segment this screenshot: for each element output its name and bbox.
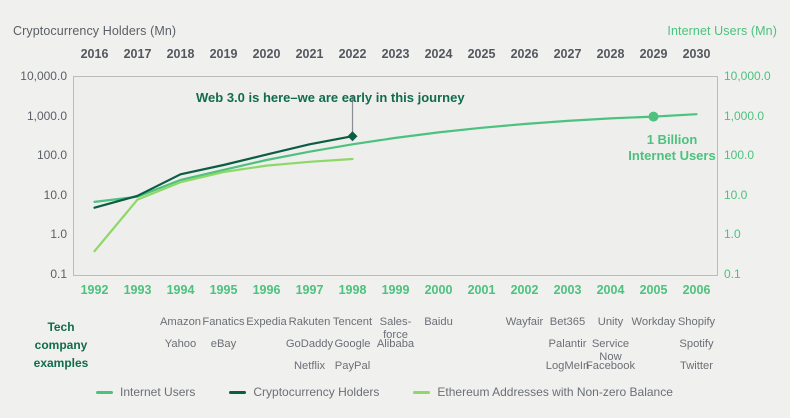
- bottom-year-tick-1997: 1997: [287, 283, 333, 297]
- top-year-tick-2023: 2023: [373, 47, 419, 61]
- top-year-tick-2024: 2024: [416, 47, 462, 61]
- company-example: Baidu: [414, 316, 464, 329]
- right-y-tick-0: 10,000.0: [724, 69, 786, 83]
- bottom-year-tick-1999: 1999: [373, 283, 419, 297]
- top-year-tick-2022: 2022: [330, 47, 376, 61]
- bottom-year-tick-1996: 1996: [244, 283, 290, 297]
- company-example: PayPal: [328, 360, 378, 373]
- series-line-internet-users: [95, 114, 697, 202]
- top-year-tick-2026: 2026: [502, 47, 548, 61]
- annotation-one-billion-line1: 1 Billion: [620, 132, 724, 148]
- top-year-tick-2017: 2017: [115, 47, 161, 61]
- top-year-tick-2020: 2020: [244, 47, 290, 61]
- left-y-tick-1: 1,000.0: [5, 109, 67, 123]
- bottom-year-tick-2003: 2003: [545, 283, 591, 297]
- bottom-year-tick-2002: 2002: [502, 283, 548, 297]
- bottom-year-tick-2006: 2006: [674, 283, 720, 297]
- chart-legend: Internet UsersCryptocurrency HoldersEthe…: [96, 385, 673, 399]
- legend-swatch-icon: [413, 391, 430, 394]
- legend-item[interactable]: Ethereum Addresses with Non-zero Balance: [413, 385, 672, 399]
- legend-item[interactable]: Cryptocurrency Holders: [229, 385, 379, 399]
- company-example: eBay: [199, 338, 249, 351]
- legend-swatch-icon: [96, 391, 113, 394]
- plot-area: [73, 76, 718, 276]
- bottom-year-tick-1993: 1993: [115, 283, 161, 297]
- right-axis-title: Internet Users (Mn): [667, 24, 777, 38]
- right-y-tick-4: 1.0: [724, 227, 786, 241]
- top-year-tick-2025: 2025: [459, 47, 505, 61]
- top-year-tick-2029: 2029: [631, 47, 677, 61]
- left-y-tick-5: 0.1: [5, 267, 67, 281]
- left-y-tick-3: 10.0: [5, 188, 67, 202]
- company-example: Shopify: [672, 316, 722, 329]
- right-y-tick-3: 10.0: [724, 188, 786, 202]
- company-example: Alibaba: [371, 338, 421, 351]
- left-y-tick-4: 1.0: [5, 227, 67, 241]
- top-year-tick-2028: 2028: [588, 47, 634, 61]
- bottom-year-tick-1994: 1994: [158, 283, 204, 297]
- bottom-year-tick-1992: 1992: [72, 283, 118, 297]
- bottom-year-tick-2005: 2005: [631, 283, 677, 297]
- bottom-year-tick-2004: 2004: [588, 283, 634, 297]
- legend-swatch-icon: [229, 391, 246, 394]
- tech-company-examples-label: Tech company examples: [26, 318, 96, 372]
- bottom-year-tick-2001: 2001: [459, 283, 505, 297]
- marker-circle-one-billion: [649, 112, 659, 122]
- right-y-tick-5: 0.1: [724, 267, 786, 281]
- top-year-tick-2018: 2018: [158, 47, 204, 61]
- annotation-one-billion-line2: Internet Users: [620, 148, 724, 164]
- left-axis-title: Cryptocurrency Holders (Mn): [13, 24, 176, 38]
- right-y-tick-1: 1,000.0: [724, 109, 786, 123]
- plot-svg: [74, 77, 717, 275]
- company-example: Twitter: [672, 360, 722, 373]
- legend-label: Cryptocurrency Holders: [253, 385, 379, 399]
- top-year-tick-2027: 2027: [545, 47, 591, 61]
- bottom-year-tick-2000: 2000: [416, 283, 462, 297]
- company-example: Spotify: [672, 338, 722, 351]
- top-year-tick-2030: 2030: [674, 47, 720, 61]
- chart-canvas: Cryptocurrency Holders (Mn) Internet Use…: [0, 0, 790, 418]
- bottom-year-tick-1998: 1998: [330, 283, 376, 297]
- marker-diamond-crypto-holders: [348, 131, 358, 141]
- legend-item[interactable]: Internet Users: [96, 385, 195, 399]
- right-y-tick-2: 100.0: [724, 148, 786, 162]
- top-year-tick-2016: 2016: [72, 47, 118, 61]
- legend-label: Ethereum Addresses with Non-zero Balance: [437, 385, 672, 399]
- annotation-web3: Web 3.0 is here–we are early in this jou…: [196, 90, 465, 105]
- company-example: Facebook: [586, 360, 636, 373]
- left-y-tick-0: 10,000.0: [5, 69, 67, 83]
- series-line-ethereum-addresses-with-non-zero-balance: [95, 159, 353, 251]
- bottom-year-tick-1995: 1995: [201, 283, 247, 297]
- left-y-tick-2: 100.0: [5, 148, 67, 162]
- legend-label: Internet Users: [120, 385, 195, 399]
- annotation-one-billion: 1 Billion Internet Users: [620, 132, 724, 164]
- top-year-tick-2021: 2021: [287, 47, 333, 61]
- top-year-tick-2019: 2019: [201, 47, 247, 61]
